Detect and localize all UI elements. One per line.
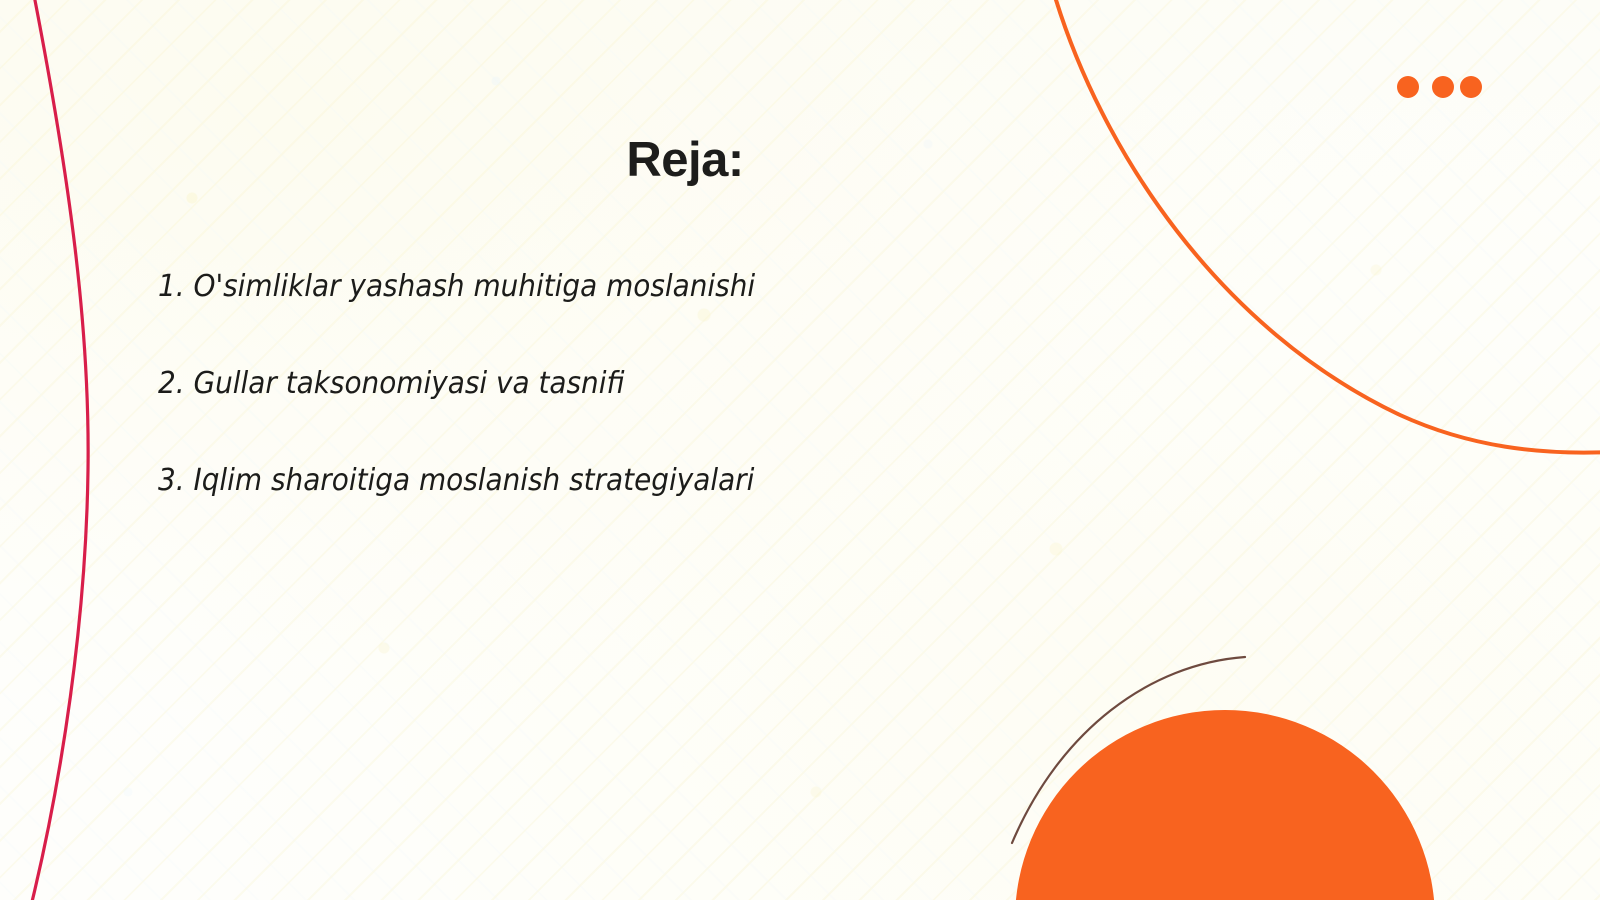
agenda-list: 1. O'simliklar yashash muhitiga moslanis… <box>158 272 1058 496</box>
slide-canvas: Reja: 1. O'simliklar yashash muhitiga mo… <box>0 0 1600 900</box>
list-item: 2. Gullar taksonomiyasi va tasnifi <box>158 369 995 399</box>
list-item: 1. O'simliklar yashash muhitiga moslanis… <box>158 272 995 302</box>
list-item: 3. Iqlim sharoitiga moslanish strategiya… <box>158 466 995 496</box>
dot-1-icon <box>1397 76 1419 98</box>
dot-3-icon <box>1460 76 1482 98</box>
page-title: Reja: <box>0 132 1370 188</box>
dot-2-icon <box>1432 76 1454 98</box>
